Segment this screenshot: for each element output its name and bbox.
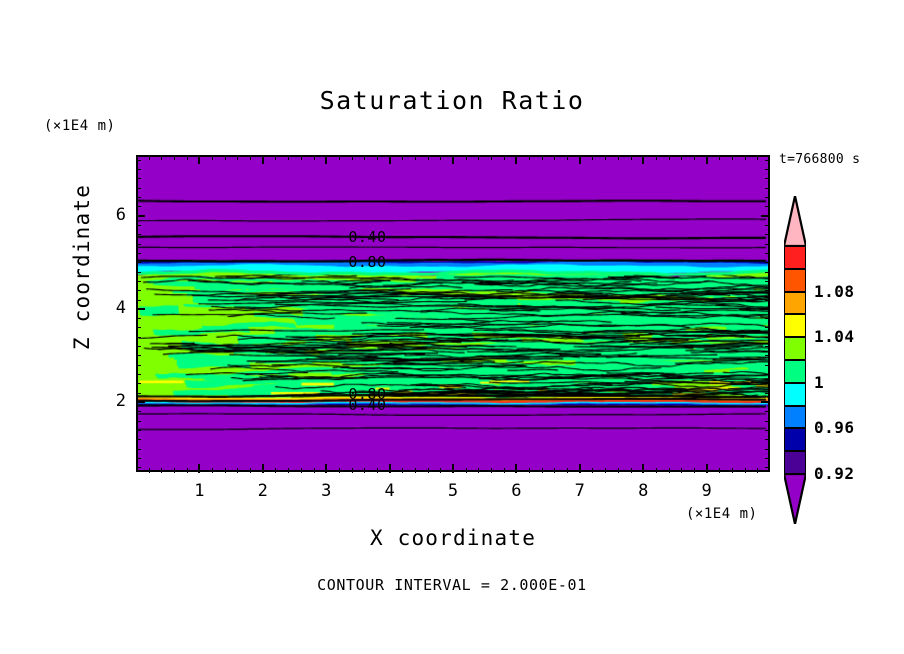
- x-tick-minor: [314, 155, 315, 160]
- y-tick-major: [136, 401, 145, 403]
- x-tick-minor: [415, 468, 416, 473]
- y-tick-minor: [136, 262, 141, 263]
- colorbar-band: [784, 337, 806, 360]
- y-tick-major: [761, 401, 770, 403]
- x-tick-minor: [225, 468, 226, 473]
- x-tick-minor: [352, 155, 353, 160]
- colorbar-tick-label: 1: [814, 373, 824, 392]
- x-tick-minor: [275, 468, 276, 473]
- x-tick-minor: [301, 468, 302, 473]
- y-tick-minor: [136, 290, 141, 291]
- contour-label: 0.40: [348, 396, 386, 414]
- x-tick-minor: [301, 155, 302, 160]
- x-tick-label: 8: [628, 481, 658, 501]
- y-tick-minor: [136, 383, 141, 384]
- y-tick-minor: [765, 262, 770, 263]
- y-tick-minor: [136, 244, 141, 245]
- colorbar-bottom-arrow-icon: [784, 474, 806, 524]
- x-tick-minor: [364, 155, 365, 160]
- y-tick-minor: [765, 272, 770, 273]
- y-tick-minor: [765, 300, 770, 301]
- x-tick-major: [706, 155, 708, 164]
- x-tick-major: [389, 155, 391, 164]
- x-tick-minor: [618, 155, 619, 160]
- y-tick-minor: [765, 290, 770, 291]
- colorbar-band: [784, 292, 806, 315]
- x-tick-major: [579, 155, 581, 164]
- y-tick-minor: [136, 281, 141, 282]
- x-tick-minor: [542, 155, 543, 160]
- y-tick-minor: [765, 337, 770, 338]
- x-tick-minor: [174, 468, 175, 473]
- y-tick-minor: [136, 300, 141, 301]
- x-tick-minor: [554, 468, 555, 473]
- x-tick-minor: [478, 468, 479, 473]
- y-tick-minor: [765, 411, 770, 412]
- colorbar-band: [784, 269, 806, 292]
- x-tick-minor: [314, 468, 315, 473]
- y-tick-minor: [136, 253, 141, 254]
- y-tick-minor: [765, 439, 770, 440]
- y-tick-label: 6: [100, 205, 126, 225]
- contour-label: 0.40: [348, 228, 386, 246]
- y-tick-minor: [136, 467, 141, 468]
- y-tick-major: [136, 308, 145, 310]
- y-tick-minor: [765, 421, 770, 422]
- x-tick-major: [642, 155, 644, 164]
- x-tick-minor: [288, 468, 289, 473]
- x-tick-minor: [757, 155, 758, 160]
- x-tick-minor: [402, 155, 403, 160]
- x-tick-label: 5: [438, 481, 468, 501]
- x-tick-minor: [491, 155, 492, 160]
- x-tick-minor: [212, 468, 213, 473]
- colorbar-band: [784, 451, 806, 474]
- y-tick-minor: [765, 327, 770, 328]
- x-axis-units-label: (×1E4 m): [686, 506, 757, 522]
- colorbar: [784, 246, 806, 474]
- y-tick-minor: [765, 253, 770, 254]
- y-tick-minor: [136, 318, 141, 319]
- y-tick-minor: [765, 365, 770, 366]
- x-tick-minor: [605, 155, 606, 160]
- x-tick-minor: [694, 468, 695, 473]
- x-tick-minor: [631, 468, 632, 473]
- y-tick-label: 4: [100, 298, 126, 318]
- x-tick-minor: [618, 468, 619, 473]
- y-tick-minor: [765, 225, 770, 226]
- x-tick-minor: [694, 155, 695, 160]
- x-tick-major: [706, 464, 708, 473]
- x-tick-minor: [275, 155, 276, 160]
- x-tick-minor: [352, 468, 353, 473]
- y-tick-minor: [136, 393, 141, 394]
- colorbar-tick-label: 1.04: [814, 327, 855, 346]
- colorbar-tick-label: 1.08: [814, 282, 855, 301]
- x-tick-minor: [237, 155, 238, 160]
- y-tick-minor: [136, 169, 141, 170]
- y-tick-label: 2: [100, 391, 126, 411]
- x-tick-minor: [466, 155, 467, 160]
- colorbar-band: [784, 314, 806, 337]
- x-tick-minor: [504, 155, 505, 160]
- y-tick-minor: [765, 197, 770, 198]
- x-tick-minor: [491, 468, 492, 473]
- y-tick-minor: [765, 355, 770, 356]
- colorbar-band: [784, 428, 806, 451]
- x-tick-minor: [149, 468, 150, 473]
- x-tick-minor: [656, 468, 657, 473]
- y-tick-minor: [136, 439, 141, 440]
- y-tick-minor: [765, 160, 770, 161]
- colorbar-band: [784, 360, 806, 383]
- x-tick-major: [198, 464, 200, 473]
- x-tick-label: 1: [184, 481, 214, 501]
- x-tick-minor: [592, 155, 593, 160]
- y-tick-minor: [765, 244, 770, 245]
- y-tick-minor: [136, 421, 141, 422]
- y-tick-minor: [765, 206, 770, 207]
- x-tick-minor: [174, 155, 175, 160]
- y-tick-minor: [136, 327, 141, 328]
- colorbar-band: [784, 246, 806, 269]
- y-tick-major: [761, 308, 770, 310]
- y-tick-minor: [136, 374, 141, 375]
- x-tick-minor: [529, 155, 530, 160]
- x-tick-minor: [719, 468, 720, 473]
- x-tick-label: 4: [375, 481, 405, 501]
- x-tick-major: [262, 464, 264, 473]
- x-tick-minor: [161, 468, 162, 473]
- contour-interval-caption: CONTOUR INTERVAL = 2.000E-01: [0, 576, 904, 594]
- x-tick-minor: [161, 155, 162, 160]
- x-tick-major: [452, 155, 454, 164]
- contour-field-canvas: [138, 157, 768, 470]
- y-tick-minor: [765, 393, 770, 394]
- plot-area: [136, 155, 770, 472]
- x-tick-minor: [745, 468, 746, 473]
- y-tick-minor: [765, 458, 770, 459]
- x-tick-minor: [732, 155, 733, 160]
- x-tick-minor: [440, 468, 441, 473]
- x-tick-minor: [466, 468, 467, 473]
- y-tick-major: [136, 215, 145, 217]
- x-tick-label: 7: [565, 481, 595, 501]
- y-tick-minor: [136, 178, 141, 179]
- x-tick-minor: [364, 468, 365, 473]
- x-tick-minor: [212, 155, 213, 160]
- y-tick-minor: [136, 225, 141, 226]
- y-tick-minor: [136, 430, 141, 431]
- x-tick-label: 2: [248, 481, 278, 501]
- x-tick-major: [515, 464, 517, 473]
- y-tick-minor: [136, 188, 141, 189]
- x-axis-title: X coordinate: [136, 526, 770, 550]
- y-tick-minor: [136, 355, 141, 356]
- x-tick-minor: [719, 155, 720, 160]
- y-tick-minor: [136, 160, 141, 161]
- colorbar-top-arrow-icon: [784, 196, 806, 246]
- x-tick-minor: [567, 468, 568, 473]
- x-tick-minor: [440, 155, 441, 160]
- y-tick-minor: [136, 411, 141, 412]
- y-tick-minor: [136, 449, 141, 450]
- x-tick-minor: [656, 155, 657, 160]
- x-tick-minor: [542, 468, 543, 473]
- x-tick-minor: [415, 155, 416, 160]
- x-tick-minor: [757, 468, 758, 473]
- colorbar-band: [784, 383, 806, 406]
- y-tick-minor: [765, 449, 770, 450]
- y-tick-minor: [136, 197, 141, 198]
- x-tick-major: [452, 464, 454, 473]
- x-tick-minor: [745, 155, 746, 160]
- x-tick-minor: [377, 155, 378, 160]
- y-tick-minor: [765, 318, 770, 319]
- z-axis-units-label: (×1E4 m): [44, 118, 115, 134]
- y-tick-minor: [765, 188, 770, 189]
- colorbar-tick-label: 0.92: [814, 464, 855, 483]
- y-tick-minor: [136, 272, 141, 273]
- x-tick-minor: [187, 155, 188, 160]
- y-tick-minor: [765, 430, 770, 431]
- x-tick-minor: [478, 155, 479, 160]
- x-tick-minor: [402, 468, 403, 473]
- x-tick-minor: [669, 155, 670, 160]
- colorbar-band: [784, 406, 806, 429]
- y-tick-minor: [136, 365, 141, 366]
- x-tick-major: [325, 155, 327, 164]
- x-tick-minor: [567, 155, 568, 160]
- time-stamp-label: t=766800 s: [779, 152, 860, 167]
- y-tick-minor: [136, 206, 141, 207]
- y-tick-minor: [765, 346, 770, 347]
- x-tick-minor: [669, 468, 670, 473]
- y-tick-minor: [765, 374, 770, 375]
- x-tick-major: [325, 464, 327, 473]
- y-tick-major: [761, 215, 770, 217]
- x-tick-minor: [504, 468, 505, 473]
- x-tick-minor: [529, 468, 530, 473]
- y-tick-minor: [136, 346, 141, 347]
- x-tick-minor: [592, 468, 593, 473]
- x-tick-major: [262, 155, 264, 164]
- x-tick-minor: [250, 468, 251, 473]
- x-tick-minor: [631, 155, 632, 160]
- x-tick-minor: [732, 468, 733, 473]
- x-tick-minor: [225, 155, 226, 160]
- y-tick-minor: [765, 281, 770, 282]
- contour-figure: Saturation Ratio (×1E4 m) t=766800 s (×1…: [0, 0, 904, 654]
- x-tick-minor: [187, 468, 188, 473]
- y-tick-minor: [765, 169, 770, 170]
- x-tick-minor: [237, 468, 238, 473]
- x-tick-minor: [605, 468, 606, 473]
- x-tick-minor: [554, 155, 555, 160]
- contour-label: 0.80: [348, 253, 386, 271]
- y-axis-title: Z coordinate: [70, 182, 94, 352]
- x-tick-major: [642, 464, 644, 473]
- x-tick-minor: [428, 155, 429, 160]
- x-tick-label: 6: [501, 481, 531, 501]
- y-tick-minor: [765, 234, 770, 235]
- colorbar-tick-label: 0.96: [814, 418, 855, 437]
- x-tick-minor: [288, 155, 289, 160]
- x-tick-major: [198, 155, 200, 164]
- x-tick-minor: [339, 468, 340, 473]
- x-tick-minor: [339, 155, 340, 160]
- x-tick-minor: [250, 155, 251, 160]
- y-tick-minor: [136, 337, 141, 338]
- y-tick-minor: [136, 458, 141, 459]
- x-tick-minor: [681, 155, 682, 160]
- x-tick-minor: [149, 155, 150, 160]
- y-tick-minor: [765, 383, 770, 384]
- x-tick-major: [579, 464, 581, 473]
- x-tick-minor: [428, 468, 429, 473]
- x-tick-major: [389, 464, 391, 473]
- page-title: Saturation Ratio: [0, 86, 904, 115]
- y-tick-minor: [765, 467, 770, 468]
- x-tick-minor: [377, 468, 378, 473]
- x-tick-label: 3: [311, 481, 341, 501]
- y-tick-minor: [765, 178, 770, 179]
- x-tick-major: [515, 155, 517, 164]
- x-tick-minor: [681, 468, 682, 473]
- y-tick-minor: [136, 234, 141, 235]
- x-tick-label: 9: [692, 481, 722, 501]
